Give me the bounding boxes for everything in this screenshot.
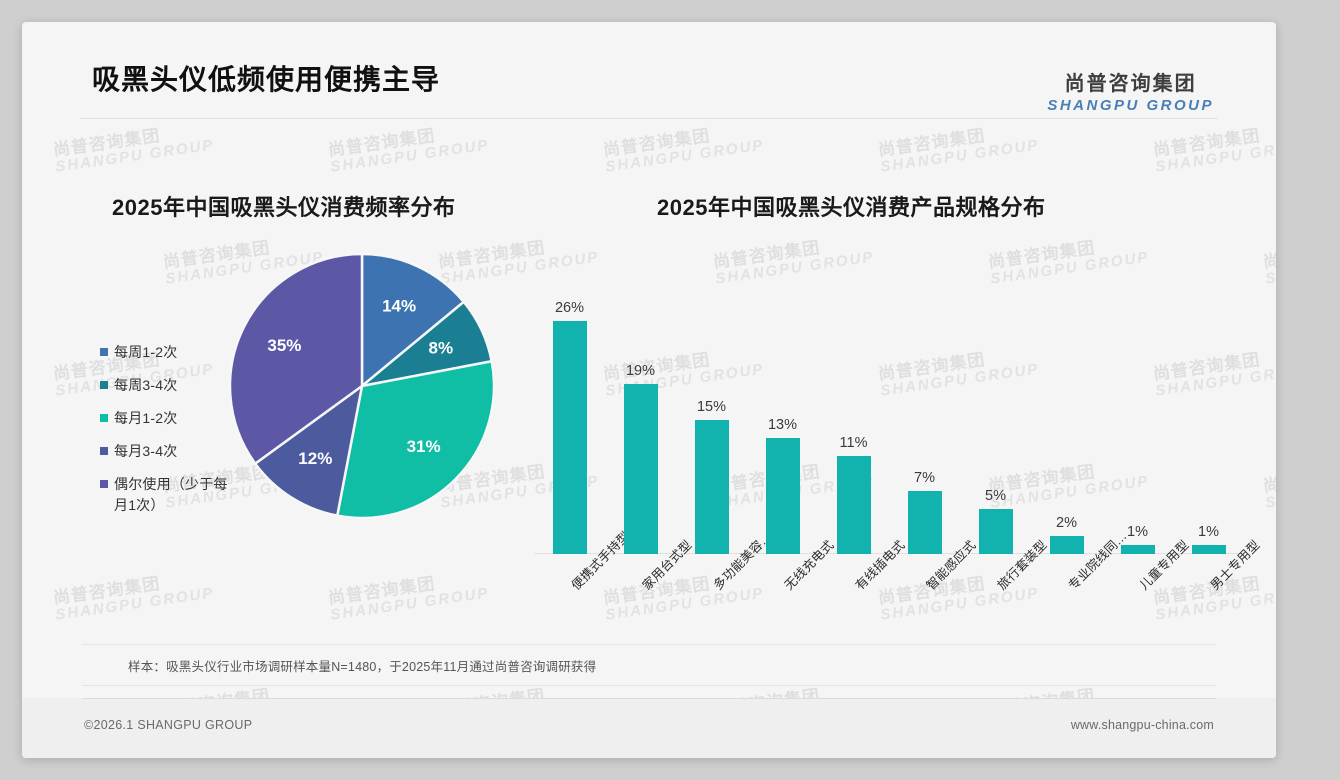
bar-chart-plot: 26%便携式手持型19%家用台式型15%多功能美容…13%无线充电式11%有线插…: [534, 262, 1244, 554]
legend-item-label: 每月1-2次: [114, 408, 177, 429]
pie-chart: 每周1-2次每周3-4次每月1-2次每月3-4次偶尔使用（少于每月1次） 14%…: [62, 242, 532, 602]
bar-column[interactable]: 19%: [624, 363, 658, 554]
page-title: 吸黑头仪低频使用便携主导: [92, 58, 440, 98]
bar-column[interactable]: 5%: [979, 488, 1013, 554]
pie-slice-label: 35%: [267, 336, 301, 355]
legend-item-label: 每周1-2次: [114, 342, 177, 363]
bar-rect[interactable]: [1192, 545, 1226, 554]
legend-color-swatch: [100, 414, 108, 422]
bar-column[interactable]: 15%: [695, 399, 729, 554]
pie-legend-item[interactable]: 每周1-2次: [100, 342, 230, 363]
bar-value-label: 1%: [1127, 524, 1148, 540]
slide-footer: ©2026.1 SHANGPU GROUP www.shangpu-china.…: [22, 698, 1276, 758]
bar-chart: 26%便携式手持型19%家用台式型15%多功能美容…13%无线充电式11%有线插…: [522, 242, 1262, 642]
pie-chart-legend: 每周1-2次每周3-4次每月1-2次每月3-4次偶尔使用（少于每月1次）: [100, 342, 230, 528]
header-divider: [80, 118, 1218, 119]
pie-slice-label: 12%: [298, 449, 332, 468]
bar-column[interactable]: 1%: [1121, 524, 1155, 554]
footer-divider: [82, 698, 1216, 699]
bar-rect[interactable]: [908, 491, 942, 554]
bar-rect[interactable]: [766, 438, 800, 554]
slide-canvas: 尚普咨询集团SHANGPU GROUP尚普咨询集团SHANGPU GROUP尚普…: [22, 22, 1276, 758]
pie-chart-title: 2025年中国吸黑头仪消费频率分布: [112, 190, 455, 222]
pie-legend-item[interactable]: 每周3-4次: [100, 375, 230, 396]
bar-value-label: 13%: [768, 417, 797, 433]
legend-color-swatch: [100, 381, 108, 389]
pie-legend-item[interactable]: 每月3-4次: [100, 441, 230, 462]
bar-rect[interactable]: [837, 456, 871, 555]
bar-value-label: 26%: [555, 300, 584, 316]
bar-rect[interactable]: [979, 509, 1013, 554]
pie-slice-label: 8%: [429, 338, 454, 357]
legend-item-label: 偶尔使用（少于每月1次）: [114, 474, 230, 516]
bar-value-label: 5%: [985, 488, 1006, 504]
footer-website[interactable]: www.shangpu-china.com: [1071, 718, 1214, 732]
bar-value-label: 15%: [697, 399, 726, 415]
pie-legend-item[interactable]: 每月1-2次: [100, 408, 230, 429]
bar-column[interactable]: 26%: [553, 300, 587, 554]
slide-header: 吸黑头仪低频使用便携主导 尚普咨询集团 SHANGPU GROUP: [22, 22, 1276, 122]
bar-column[interactable]: 2%: [1050, 515, 1084, 554]
charts-area: 2025年中国吸黑头仪消费频率分布 2025年中国吸黑头仪消费产品规格分布 每周…: [22, 122, 1276, 648]
pie-svg: 14%8%31%12%35%: [226, 250, 498, 522]
legend-color-swatch: [100, 480, 108, 488]
bar-column[interactable]: 13%: [766, 417, 800, 554]
legend-item-label: 每周3-4次: [114, 375, 177, 396]
brand-logo-cn: 尚普咨询集团: [1047, 72, 1214, 97]
brand-logo-en: SHANGPU GROUP: [1047, 97, 1214, 115]
bar-value-label: 7%: [914, 470, 935, 486]
pie-legend-item[interactable]: 偶尔使用（少于每月1次）: [100, 474, 230, 516]
bar-rect[interactable]: [695, 420, 729, 554]
bar-value-label: 2%: [1056, 515, 1077, 531]
brand-logo: 尚普咨询集团 SHANGPU GROUP: [1047, 72, 1214, 115]
bar-rect[interactable]: [1050, 536, 1084, 554]
bar-value-label: 19%: [626, 363, 655, 379]
legend-color-swatch: [100, 447, 108, 455]
bar-chart-title: 2025年中国吸黑头仪消费产品规格分布: [657, 190, 1045, 222]
pie-chart-graphic: 14%8%31%12%35%: [226, 250, 498, 522]
footnote-band: 样本：吸黑头仪行业市场调研样本量N=1480，于2025年11月通过尚普咨询调研…: [82, 644, 1216, 686]
bar-column[interactable]: 11%: [837, 435, 871, 555]
bar-value-label: 1%: [1198, 524, 1219, 540]
bar-rect[interactable]: [1121, 545, 1155, 554]
bar-column[interactable]: 1%: [1192, 524, 1226, 554]
bar-value-label: 11%: [840, 435, 868, 451]
legend-item-label: 每月3-4次: [114, 441, 177, 462]
bar-column[interactable]: 7%: [908, 470, 942, 554]
footer-copyright: ©2026.1 SHANGPU GROUP: [84, 718, 252, 732]
legend-color-swatch: [100, 348, 108, 356]
footnote-text: 样本：吸黑头仪行业市场调研样本量N=1480，于2025年11月通过尚普咨询调研…: [82, 656, 596, 675]
bar-rect[interactable]: [553, 321, 587, 554]
bar-rect[interactable]: [624, 384, 658, 554]
pie-slice-label: 14%: [382, 297, 416, 316]
pie-slice-label: 31%: [407, 437, 441, 456]
